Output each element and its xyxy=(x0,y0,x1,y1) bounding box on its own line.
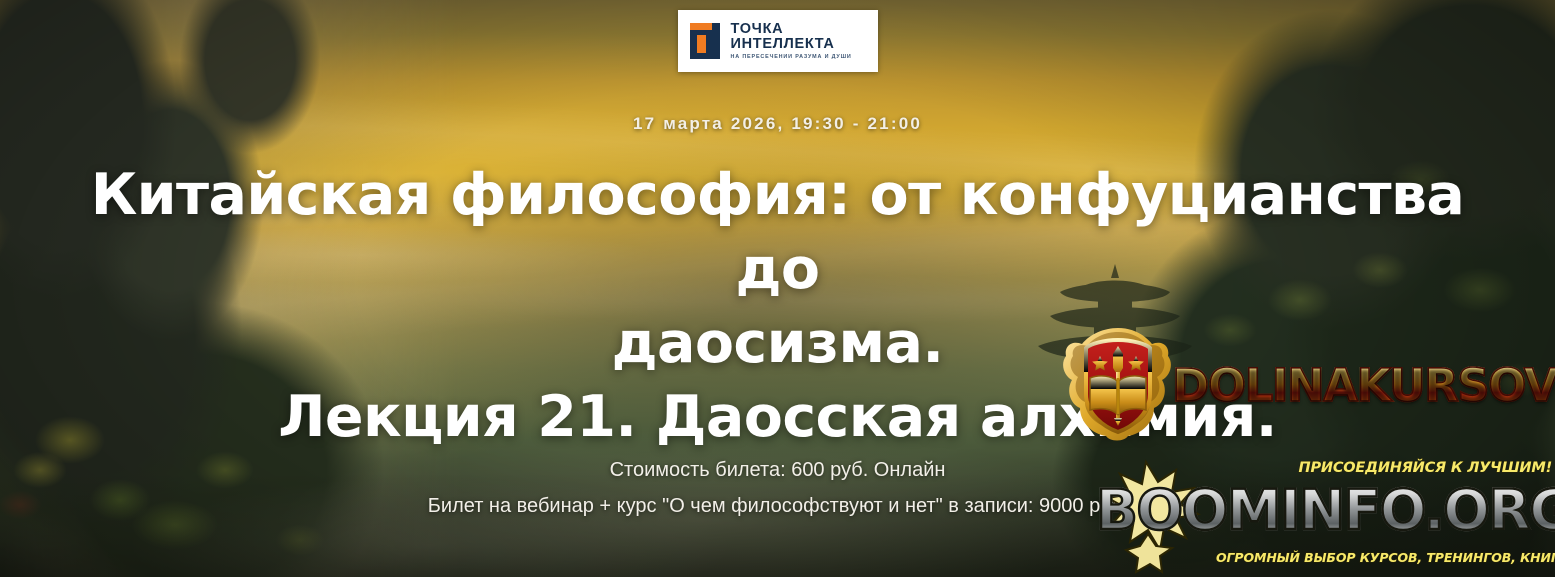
watermark-dolinakursov: DOLINAKURSOV xyxy=(1060,326,1555,444)
watermark-boominfo: ПРИСОЕДИНЯЙСЯ К ЛУЧШИМ! BOOMINFO.ORG ОГР… xyxy=(1096,438,1555,577)
brand-line-1: ТОЧКА xyxy=(731,22,852,37)
event-datetime: 17 марта 2026, 19:30 - 21:00 xyxy=(633,114,922,134)
watermark-boom-bottom-slogan: ОГРОМНЫЙ ВЫБОР КУРСОВ, ТРЕНИНГОВ, КНИГ xyxy=(1216,550,1555,565)
brand-tagline: НА ПЕРЕСЕЧЕНИИ РАЗУМА И ДУШИ xyxy=(731,54,852,60)
tochka-intellekta-monogram-icon xyxy=(686,21,724,61)
watermark-dolina-text: DOLINAKURSOV xyxy=(1172,363,1555,408)
brand-line-2: ИНТЕЛЛЕКТА xyxy=(731,37,852,52)
event-banner: ТОЧКА ИНТЕЛЛЕКТА НА ПЕРЕСЕЧЕНИИ РАЗУМА И… xyxy=(0,0,1555,577)
shield-book-pen-emblem-icon xyxy=(1060,326,1176,444)
brand-logo: ТОЧКА ИНТЕЛЛЕКТА НА ПЕРЕСЕЧЕНИИ РАЗУМА И… xyxy=(678,10,878,72)
title-line-1: Китайская философия: от конфуцианства до xyxy=(83,158,1473,306)
watermark-boom-top-slogan: ПРИСОЕДИНЯЙСЯ К ЛУЧШИМ! xyxy=(1272,460,1552,476)
watermark-boom-site: BOOMINFO.ORG xyxy=(1096,476,1555,544)
brand-wordmark: ТОЧКА ИНТЕЛЛЕКТА НА ПЕРЕСЕЧЕНИИ РАЗУМА И… xyxy=(731,22,852,60)
